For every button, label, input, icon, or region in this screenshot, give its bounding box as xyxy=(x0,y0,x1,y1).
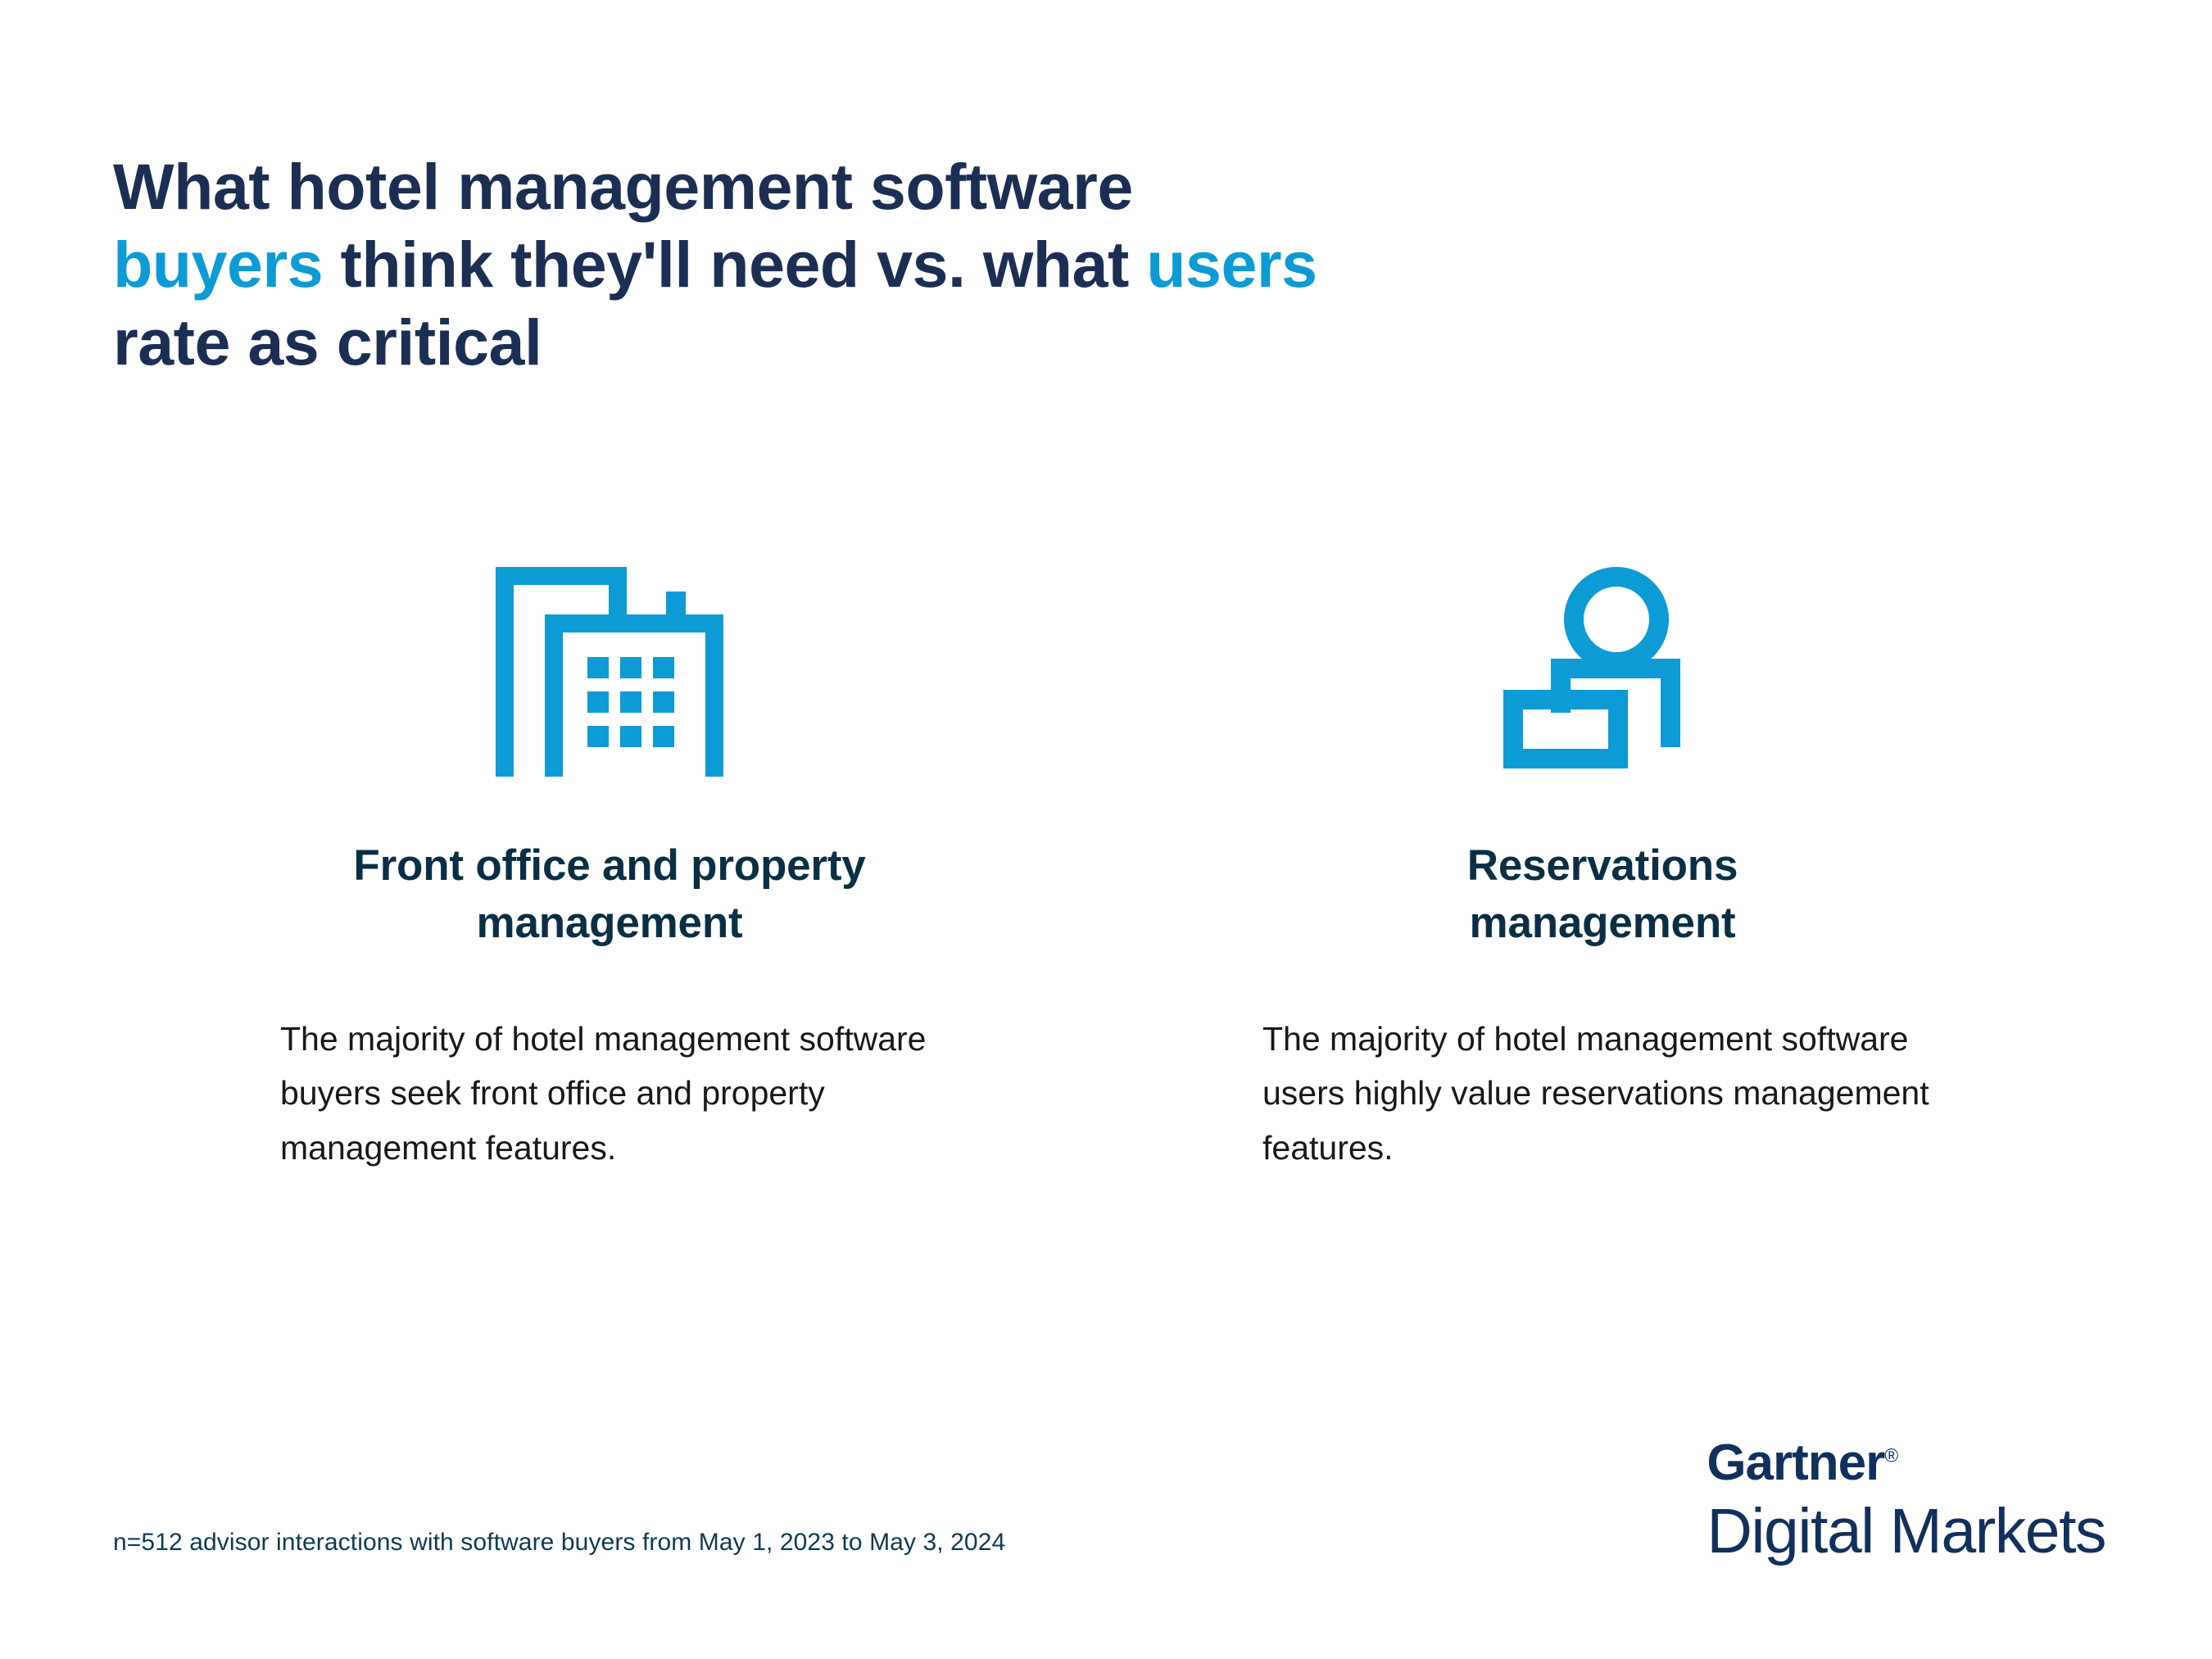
title-line-2-mid: think they'll need vs. what xyxy=(323,228,1146,301)
infographic-canvas: What hotel management software buyers th… xyxy=(0,0,2212,1659)
title-accent-users: users xyxy=(1146,228,1317,301)
logo-brand-line: Gartner® xyxy=(1707,1438,2105,1489)
page-title: What hotel management software buyers th… xyxy=(113,148,1965,381)
title-line-3: rate as critical xyxy=(113,306,542,378)
person-at-desk-icon xyxy=(1497,549,1708,795)
columns-container: Front office and property management The… xyxy=(113,549,2099,1175)
column-body-front-office: The majority of hotel management softwar… xyxy=(259,1012,960,1175)
title-accent-buyers: buyers xyxy=(113,228,323,301)
title-line-1: What hotel management software xyxy=(113,150,1133,223)
column-heading-front-office: Front office and property management xyxy=(270,837,950,953)
column-body-reservations: The majority of hotel management softwar… xyxy=(1262,1012,1942,1175)
column-heading-reservations: Reservations management xyxy=(1373,837,1832,953)
logo-product: Digital Markets xyxy=(1707,1500,2105,1563)
logo-brand: Gartner xyxy=(1707,1435,1884,1491)
footnote: n=512 advisor interactions with software… xyxy=(113,1529,1005,1557)
column-front-office: Front office and property management The… xyxy=(113,549,1106,1175)
gartner-digital-markets-logo: Gartner® Digital Markets xyxy=(1707,1438,2105,1563)
registered-trademark-icon: ® xyxy=(1884,1444,1898,1466)
column-reservations: Reservations management The majority of … xyxy=(1106,549,2099,1175)
building-icon xyxy=(496,549,723,795)
